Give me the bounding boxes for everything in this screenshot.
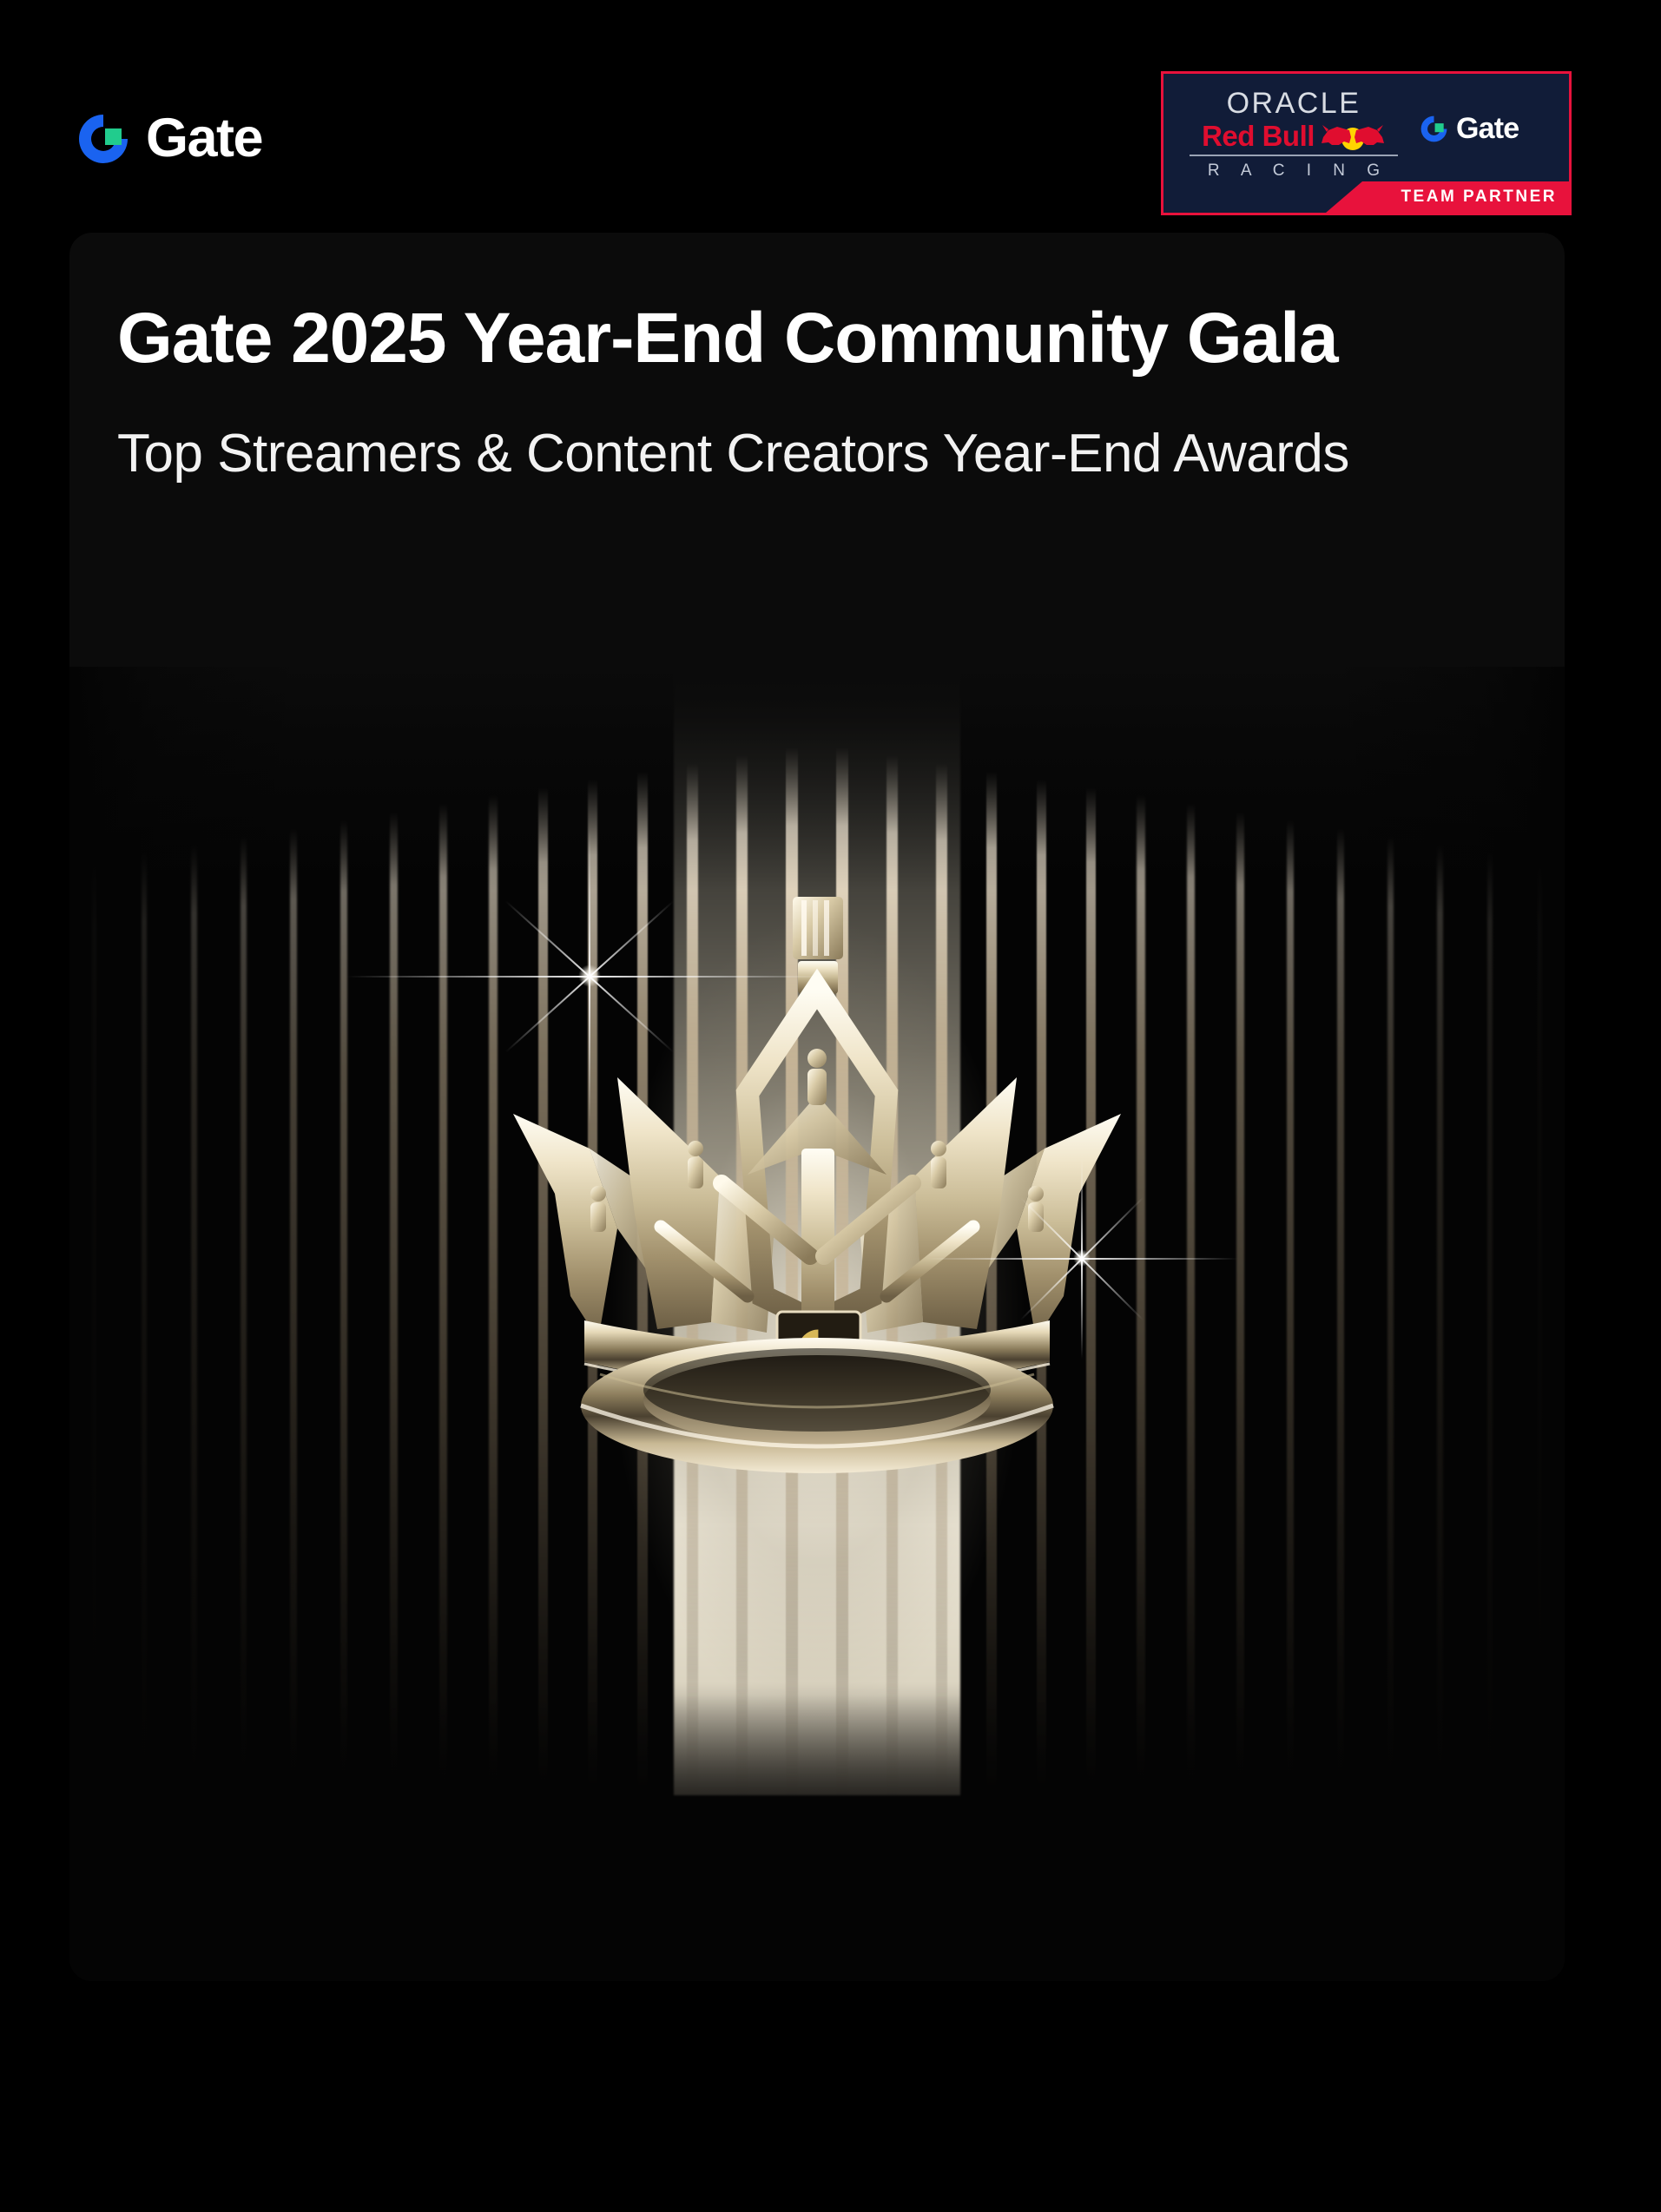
team-partner-banner: TEAM PARTNER: [1326, 181, 1569, 213]
hero-bottom-fade: [69, 1695, 1565, 1981]
badge-gate-wordmark: Gate: [1456, 114, 1519, 143]
page-header: Gate ORACLE Red Bull: [0, 0, 1661, 234]
red-bull-wordmark: Red Bull: [1202, 122, 1315, 150]
gate-brand-logo[interactable]: Gate: [76, 111, 262, 166]
gate-g-mark-icon: [76, 112, 130, 166]
gate-g-mark-icon-badge: [1420, 115, 1448, 143]
racing-wordmark: R A C I N G: [1199, 160, 1388, 183]
page-root: Gate ORACLE Red Bull: [0, 0, 1661, 2212]
hero-image: [69, 667, 1565, 1981]
team-partner-label: TEAM PARTNER: [1401, 188, 1557, 207]
oracle-red-bull-racing-partner-badge[interactable]: ORACLE Red Bull R A C I N G: [1161, 71, 1572, 215]
page-subtitle: Top Streamers & Content Creators Year-En…: [117, 422, 1506, 485]
badge-divider: [1190, 155, 1398, 156]
red-bull-charging-bulls-icon: [1320, 122, 1386, 151]
gate-wordmark: Gate: [146, 111, 262, 166]
badge-gate-logo: Gate: [1420, 114, 1519, 143]
red-bull-racing-lockup: ORACLE Red Bull R A C I N G: [1190, 89, 1398, 182]
event-card: Gate 2025 Year-End Community Gala Top St…: [69, 233, 1565, 1981]
card-text-block: Gate 2025 Year-End Community Gala Top St…: [69, 233, 1565, 485]
page-title: Gate 2025 Year-End Community Gala: [117, 293, 1550, 384]
oracle-wordmark: ORACLE: [1227, 89, 1361, 119]
